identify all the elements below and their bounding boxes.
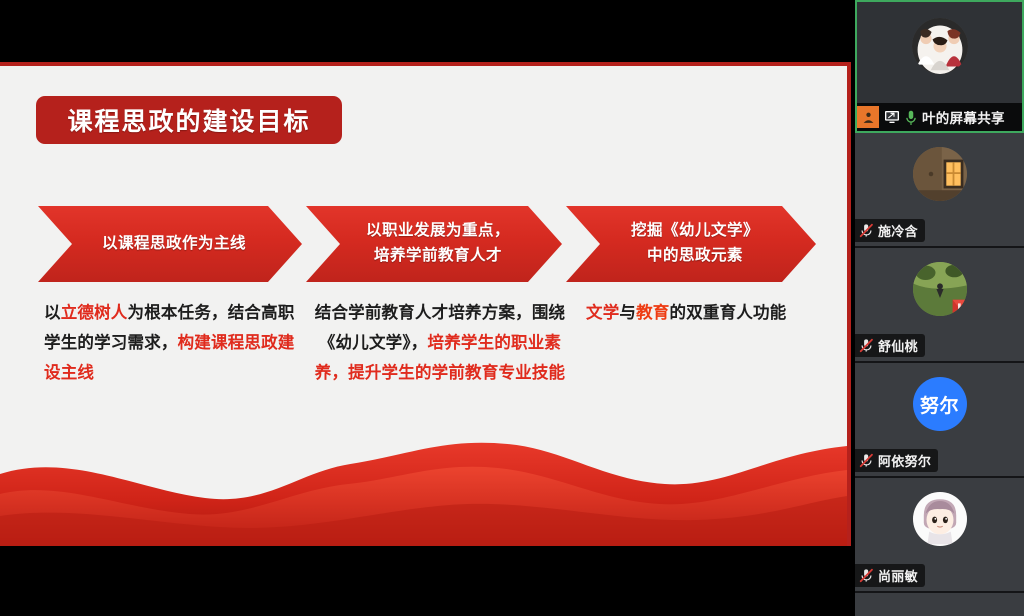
shared-screen-area[interactable]: 课程思政的建设目标 以课程思政作为主线 以职业发展为重点，培养学前教育人才 挖掘… bbox=[0, 0, 855, 616]
participant-tile[interactable]: 施冷含 bbox=[855, 133, 1024, 248]
zoom-screen-share-window: 课程思政的建设目标 以课程思政作为主线 以职业发展为重点，培养学前教育人才 挖掘… bbox=[0, 0, 1024, 616]
participant-tile[interactable]: 尚丽敏 bbox=[855, 478, 1024, 593]
participant-tile[interactable]: 努尔阿依努尔 bbox=[855, 363, 1024, 478]
host-icon bbox=[857, 106, 879, 128]
avatar bbox=[913, 262, 967, 316]
chevron-career-focus-line-1: 培养学前教育人才 bbox=[374, 244, 502, 269]
participant-filmstrip[interactable]: 叶的屏幕共享施冷含舒仙桃努尔阿依努尔尚丽敏 bbox=[855, 0, 1024, 616]
avatar bbox=[913, 147, 967, 201]
chevron-career-focus: 以职业发展为重点，培养学前教育人才 bbox=[306, 206, 562, 282]
screen-share-icon bbox=[884, 109, 900, 125]
chevron-career-focus-line-0: 以职业发展为重点， bbox=[366, 219, 510, 244]
participant-name-bar: 施冷含 bbox=[855, 219, 925, 242]
avatar bbox=[912, 18, 968, 74]
body-column-career-focus: 结合学前教育人才培养方案，围绕《幼儿文学》，培养学生的职业素养，提升学生的学前教… bbox=[306, 298, 574, 388]
body-column-dual-function-seg-3: 的双重育人功能 bbox=[670, 304, 787, 322]
mic-icon bbox=[905, 110, 917, 125]
participant-name-bar: 舒仙桃 bbox=[855, 334, 925, 357]
participant-name: 施冷含 bbox=[878, 221, 918, 240]
body-column-dual-function-seg-1: 与 bbox=[619, 304, 636, 322]
body-column-dual-function-seg-2: 教育 bbox=[636, 304, 669, 322]
participant-tile[interactable]: 叶的屏幕共享 bbox=[855, 0, 1024, 133]
participant-name: 阿依努尔 bbox=[878, 451, 931, 470]
slide-title: 课程思政的建设目标 bbox=[36, 96, 342, 144]
body-column-dual-function: 文学与教育的双重育人功能 bbox=[586, 298, 816, 328]
participant-tile[interactable]: 舒仙桃 bbox=[855, 248, 1024, 363]
red-silk-wave-decoration bbox=[0, 428, 847, 546]
chevron-ideology-elements-line-0: 挖掘《幼儿文学》 bbox=[631, 219, 759, 244]
participant-name-bar: 尚丽敏 bbox=[855, 564, 925, 587]
body-column-main-line-seg-0: 以 bbox=[44, 304, 61, 322]
presentation-slide-frame: 课程思政的建设目标 以课程思政作为主线 以职业发展为重点，培养学前教育人才 挖掘… bbox=[0, 62, 851, 546]
chevron-arrow-row: 以课程思政作为主线 以职业发展为重点，培养学前教育人才 挖掘《幼儿文学》中的思政… bbox=[0, 206, 847, 282]
body-column-main-line: 以立德树人为根本任务，结合高职学生的学习需求，构建课程思政建设主线 bbox=[44, 298, 296, 388]
participant-tile[interactable] bbox=[855, 593, 1024, 616]
chevron-ideology-elements: 挖掘《幼儿文学》中的思政元素 bbox=[566, 206, 816, 282]
chevron-ideology-elements-line-1: 中的思政元素 bbox=[647, 244, 743, 269]
participant-name: 舒仙桃 bbox=[878, 336, 918, 355]
body-column-dual-function-seg-0: 文学 bbox=[586, 304, 619, 322]
chevron-main-line-line-0: 以课程思政作为主线 bbox=[102, 232, 246, 257]
mic-muted-icon bbox=[859, 453, 874, 468]
avatar bbox=[913, 492, 967, 546]
participant-name-bar: 阿依努尔 bbox=[855, 449, 938, 472]
body-column-main-line-seg-1: 立德树人 bbox=[61, 304, 128, 322]
avatar: 努尔 bbox=[913, 377, 967, 431]
presentation-slide: 课程思政的建设目标 以课程思政作为主线 以职业发展为重点，培养学前教育人才 挖掘… bbox=[0, 66, 847, 546]
mic-muted-icon bbox=[859, 338, 874, 353]
chevron-main-line: 以课程思政作为主线 bbox=[38, 206, 302, 282]
body-text-columns: 以立德树人为根本任务，结合高职学生的学习需求，构建课程思政建设主线 结合学前教育… bbox=[0, 298, 847, 418]
participant-name-bar: 叶的屏幕共享 bbox=[857, 103, 1022, 131]
mic-muted-icon bbox=[859, 223, 874, 238]
participant-name: 叶的屏幕共享 bbox=[922, 107, 1005, 127]
participant-name: 尚丽敏 bbox=[878, 566, 918, 585]
mic-muted-icon bbox=[859, 568, 874, 583]
avatar-initials: 努尔 bbox=[913, 377, 967, 431]
